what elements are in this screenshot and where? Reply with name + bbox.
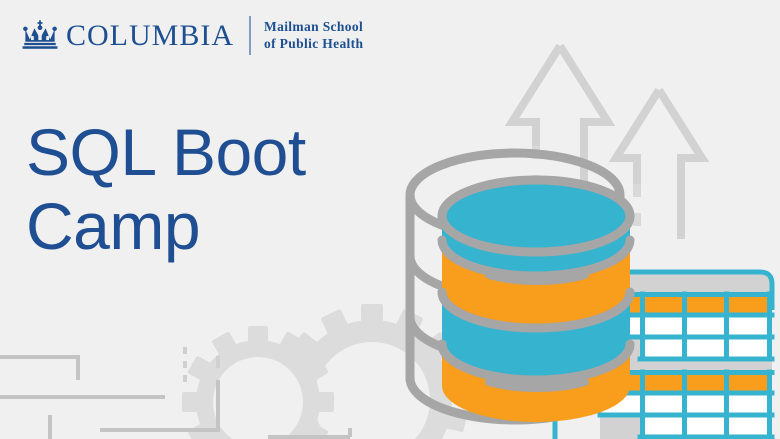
foreground-artwork	[0, 0, 780, 439]
slide-canvas: COLUMBIA Mailman School of Public Health…	[0, 0, 780, 439]
database-cylinder-icon	[410, 153, 630, 422]
